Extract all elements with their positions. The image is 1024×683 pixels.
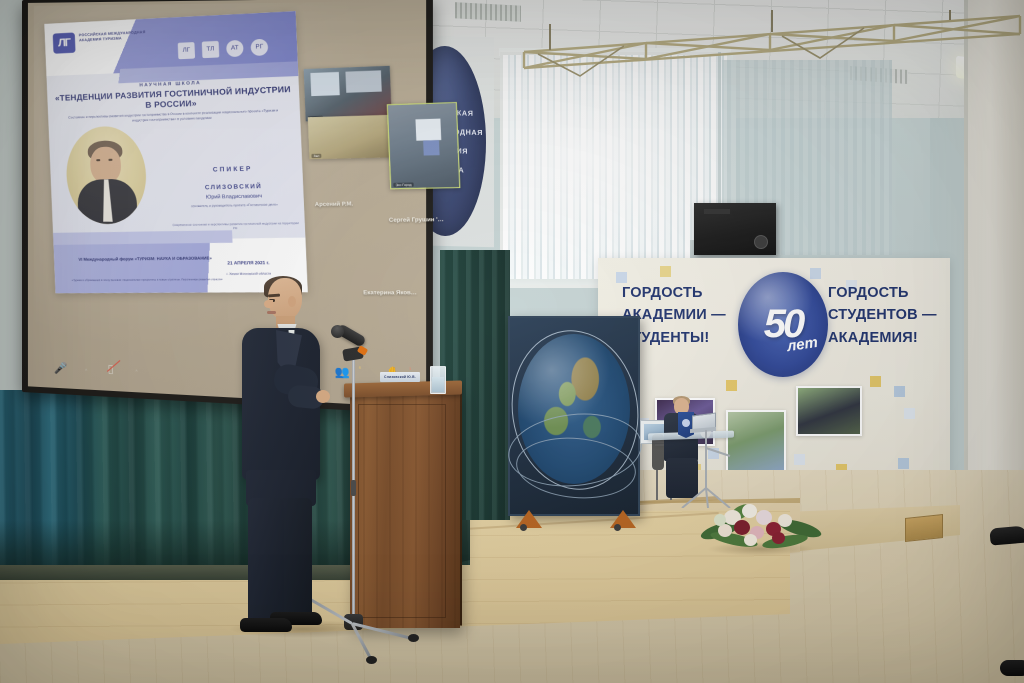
camera-off-icon: ▯ [107,364,114,375]
video-conference-tiles: Спикер Зал Эко Город [303,60,442,202]
anniversary-word: лет [786,334,819,355]
speaker-portrait [65,125,148,224]
mic-stand-clutch [351,480,356,496]
participant-tile[interactable]: Спикер [304,66,392,122]
presenter-at-podium [236,278,340,638]
globe-poster [508,316,640,516]
water-glass [430,366,446,394]
participant-name: Сергей Грушин '… [389,217,444,224]
slide-date: 21 АПРЕЛЯ 2021 г. [202,260,296,266]
partner-logo-icon: АТ [226,40,244,57]
banner-photo [796,386,862,436]
presentation-slide: ЛГ РОССИЙСКАЯ МЕЖДУНАРОДНАЯ АКАДЕМИЯ ТУР… [44,11,307,293]
slide-speaker-role: основатель и руководитель проекта «Гости… [170,202,300,209]
presenter-leg-front [248,498,284,626]
presenter-hand [316,390,330,403]
toolbar-mute-button[interactable]: 🎤 [38,363,84,375]
slide-speaker-label: СПИКЕР [170,164,296,174]
offscreen-person-shoe [989,525,1024,545]
wooden-block-prop [905,514,943,542]
microphone-icon: 🎤 [54,363,68,374]
lighting-truss [520,10,1024,80]
anniversary-banner: ГОРДОСТЬ АКАДЕМИИ — СТУДЕНТЫ! 50 лет ГОР… [598,258,950,506]
podium-nameplate: Слизовский Ю.В. [380,372,420,382]
banner-slogan-right: ГОРДОСТЬ СТУДЕНТОВ — АКАДЕМИЯ! [828,282,946,349]
screen-surface: ЛГ РОССИЙСКАЯ МЕЖДУНАРОДНАЯ АКАДЕМИЯ ТУР… [28,0,426,408]
partner-logo-icon: ТЛ [202,41,220,58]
participant-name: Арсений Р.М. [315,201,354,208]
anniversary-emblem: 50 лет [738,272,828,377]
ceiling-vent-icon [455,2,521,21]
presenter-ear [288,296,296,307]
academy-logo-icon: ЛГ [53,33,76,54]
presenter-mouth [267,311,276,314]
participant-tile-label: Эко Город [393,183,414,188]
participants-count-badge: 5 [359,365,361,369]
reactions-count-badge: 1 [409,366,411,370]
chevron-up-icon[interactable]: ˄ [135,367,138,372]
partner-logo-row: ЛГ ТЛ АТ РГ [178,34,290,62]
participant-tile-active[interactable]: Эко Город [387,102,461,189]
slide-speaker-firstname: Юрий Владиславович [172,193,298,202]
podium-nameplate-text: Слизовский Ю.В. [384,375,416,379]
flower-arrangement [700,498,820,560]
toolbar-video-button[interactable]: ▯ [87,364,134,376]
slide-speaker-lastname: СЛИЗОВСКИЙ [171,183,297,192]
podium-front-panel [358,404,446,618]
conference-toolbar: 🎤 ˄ ▯ ˄ 👥 5 ✋ 1 [38,357,420,385]
offscreen-person-shoe [1000,660,1024,676]
partner-logo-icon: РГ [250,39,268,56]
presenter-nose [264,300,273,308]
participant-tile-label: Зал [311,154,321,158]
presenter-shoe-front [240,618,292,632]
partner-logo-icon: ЛГ [178,42,195,59]
presidium-mic-stand [678,430,738,508]
participant-name: Екатерина Яков… [363,290,417,296]
projection-screen: ЛГ РОССИЙСКАЯ МЕЖДУНАРОДНАЯ АКАДЕМИЯ ТУР… [22,0,433,415]
pa-speaker-box [694,203,776,255]
conference-hall-photo: РОССИЙСКАЯ МЕЖДУНАРОДНАЯ АКАДЕМИЯ ТУРИЗМ… [0,0,1024,683]
